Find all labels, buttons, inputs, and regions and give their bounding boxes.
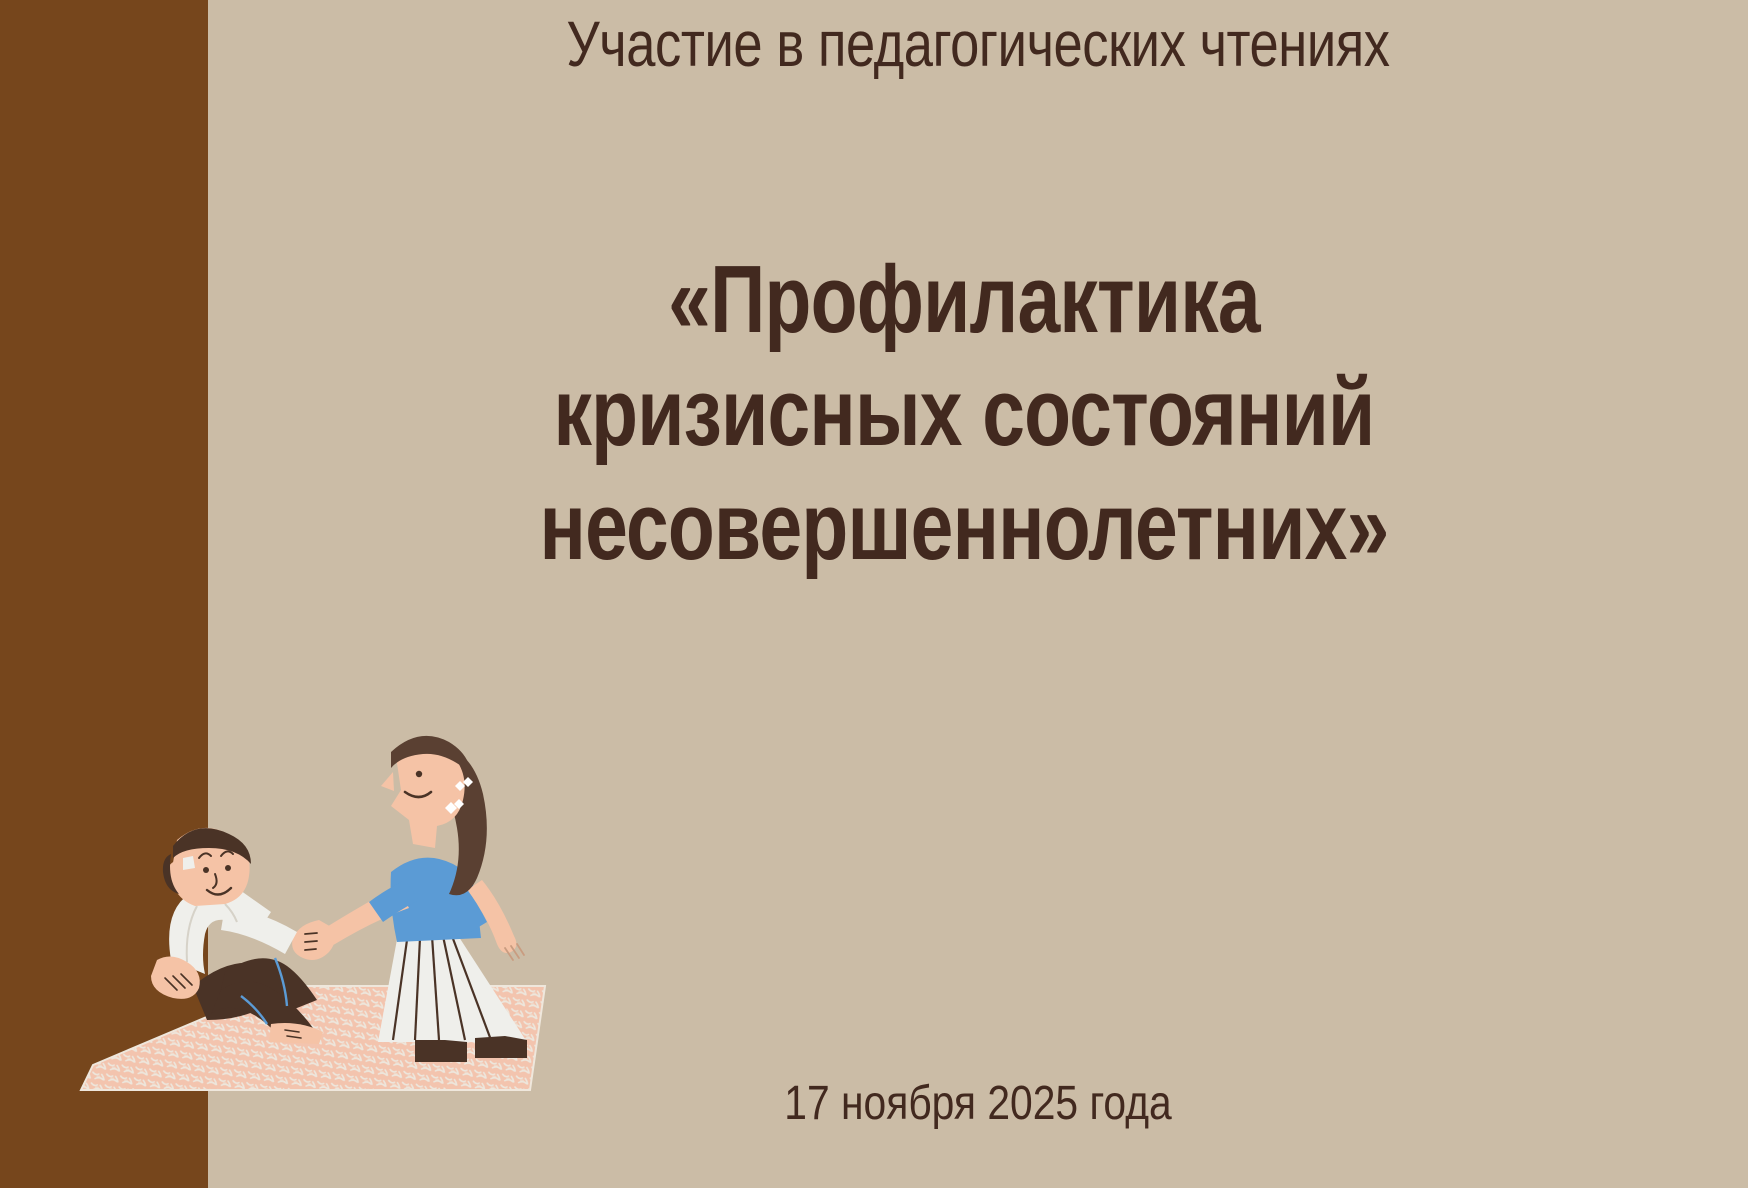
- slide-header-title: Участие в педагогических чтениях: [347, 8, 1610, 82]
- boy-eye-left: [203, 867, 209, 873]
- girl-eye: [416, 771, 422, 777]
- people-helping-illustration: [75, 690, 575, 1110]
- girl-boot-right: [475, 1036, 527, 1058]
- boy-headphone: [183, 856, 195, 870]
- title-line-2: кризисных состояний: [433, 356, 1495, 469]
- title-line-1: «Профилактика: [433, 243, 1495, 356]
- joined-hands: [292, 920, 335, 960]
- slide-main-title: «Профилактика кризисных состояний несове…: [300, 243, 1628, 583]
- boy-eye-right: [225, 865, 231, 871]
- presentation-slide: Участие в педагогических чтениях «Профил…: [0, 0, 1748, 1188]
- title-line-3: несовершеннолетних»: [433, 470, 1495, 583]
- girl-boot-left: [415, 1040, 467, 1062]
